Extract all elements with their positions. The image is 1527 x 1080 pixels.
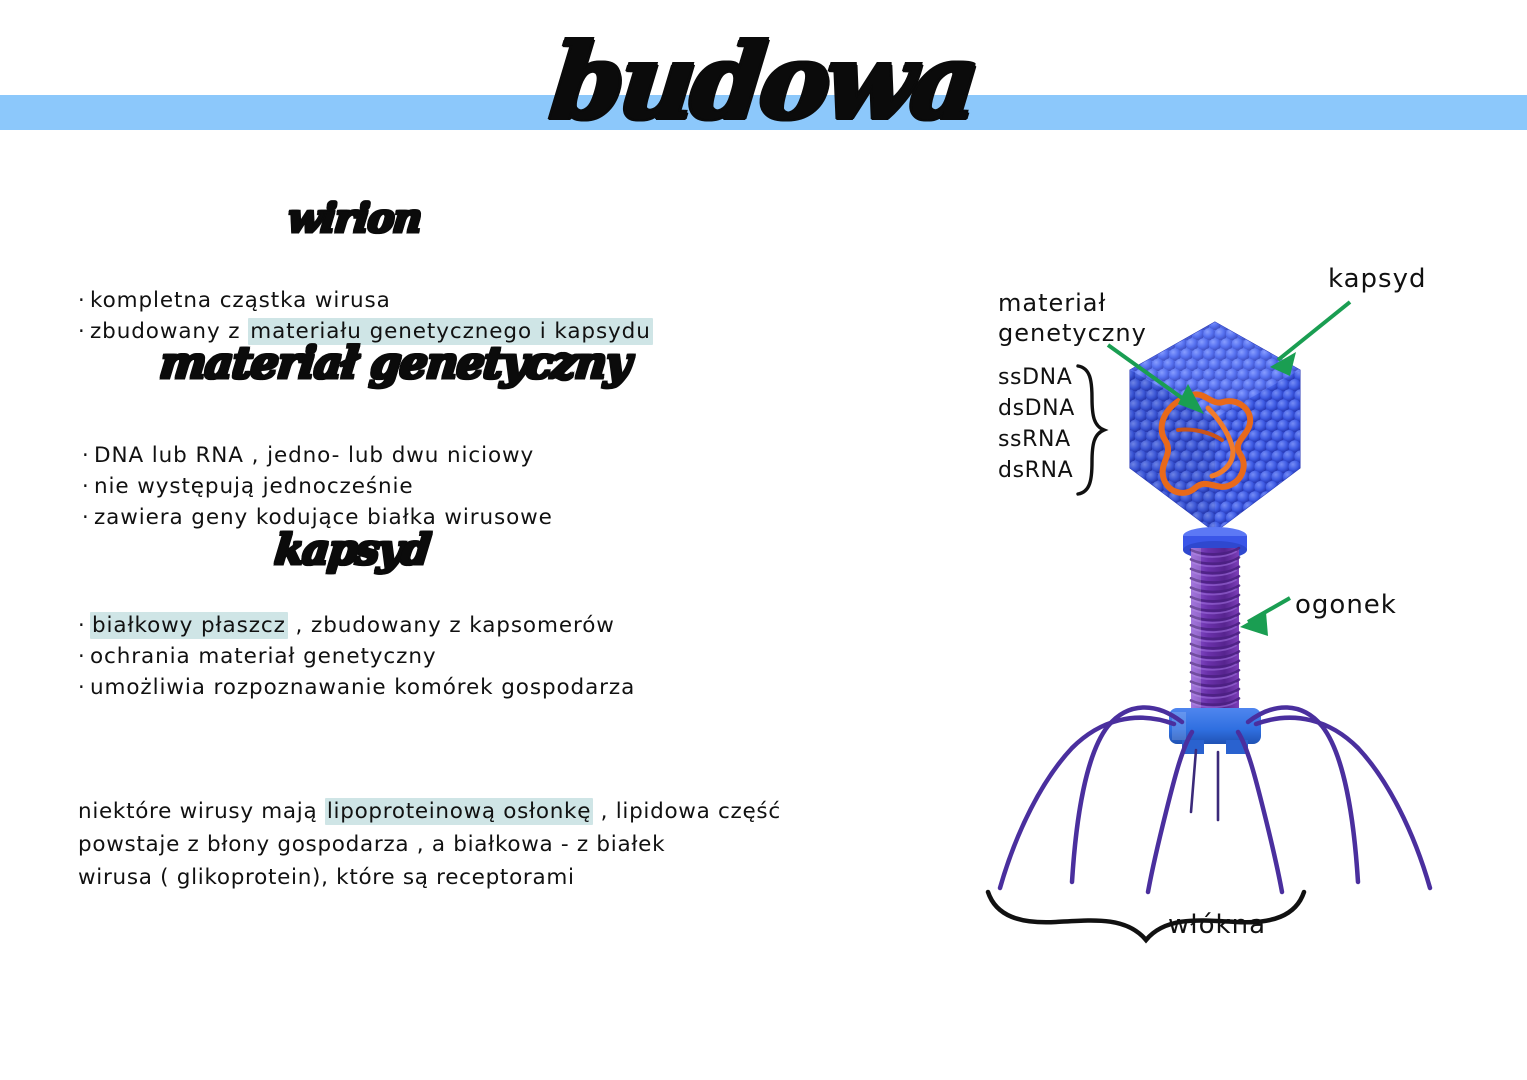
- paragraph-text: niektóre wirusy mają: [78, 799, 325, 824]
- paragraph-line: wirusa ( glikoprotein), które są recepto…: [78, 861, 1008, 894]
- paragraph-text: , lipidowa część: [593, 799, 781, 824]
- nucleic-acid-brace: [1078, 366, 1104, 494]
- list-item: ·nie występują jednocześnie: [82, 471, 553, 502]
- arrow-ogonek: [1240, 598, 1290, 636]
- bullet-text: ochrania materiał genetyczny: [90, 644, 436, 669]
- bullet-dot: ·: [78, 285, 90, 316]
- tail-sheath: [1191, 548, 1239, 710]
- bullet-dot: ·: [82, 471, 94, 502]
- bullet-text: , zbudowany z kapsomerów: [288, 613, 615, 638]
- heading-wirion: wirion: [285, 195, 423, 243]
- bullet-dot: ·: [82, 502, 94, 533]
- bullet-text: DNA lub RNA , jedno- lub dwu niciowy: [94, 443, 534, 468]
- list-item: ·ochrania materiał genetyczny: [78, 641, 635, 672]
- highlighted-term: białkowy płaszcz: [90, 612, 288, 639]
- list-item: ·DNA lub RNA , jedno- lub dwu niciowy: [82, 440, 553, 471]
- list-item: ·kompletna cząstka wirusa: [78, 285, 653, 316]
- bullet-list-kapsyd: ·białkowy płaszcz , zbudowany z kapsomer…: [78, 610, 635, 703]
- highlighted-term: lipoproteinową osłonkę: [325, 798, 593, 825]
- capsid-head: [1106, 318, 1329, 545]
- bullet-text: umożliwia rozpoznawanie komórek gospodar…: [90, 675, 635, 700]
- heading-material-genetyczny: materiał genetyczny: [157, 338, 632, 390]
- bullet-dot: ·: [78, 316, 90, 347]
- bullet-dot: ·: [78, 672, 90, 703]
- note-page: budowa wirion ·kompletna cząstka wirusa …: [0, 0, 1527, 1080]
- wlokna-brace: [988, 892, 1304, 940]
- bullet-dot: ·: [78, 641, 90, 672]
- paragraph-line: powstaje z błony gospodarza , a białkowa…: [78, 828, 1008, 861]
- baseplate-pins: [1191, 750, 1218, 820]
- list-item: ·umożliwia rozpoznawanie komórek gospoda…: [78, 672, 635, 703]
- phage-illustration: [960, 240, 1520, 970]
- page-title: budowa: [0, 22, 1527, 142]
- paragraph-line: niektóre wirusy mają lipoproteinową osło…: [78, 795, 1008, 828]
- notes-column: wirion ·kompletna cząstka wirusa ·zbudow…: [0, 195, 990, 955]
- list-item: ·białkowy płaszcz , zbudowany z kapsomer…: [78, 610, 635, 641]
- heading-kapsyd: kapsyd: [272, 525, 431, 575]
- bullet-dot: ·: [82, 440, 94, 471]
- envelope-paragraph: niektóre wirusy mają lipoproteinową osło…: [78, 795, 1008, 894]
- bullet-text: kompletna cząstka wirusa: [90, 288, 391, 313]
- bacteriophage-diagram: kapsyd materiał genetyczny ssDNA dsDNA s…: [960, 240, 1520, 970]
- arrow-kapsyd: [1270, 302, 1350, 376]
- bullet-list-material: ·DNA lub RNA , jedno- lub dwu niciowy ·n…: [82, 440, 553, 533]
- bullet-dot: ·: [78, 610, 90, 641]
- bullet-text: nie występują jednocześnie: [94, 474, 413, 499]
